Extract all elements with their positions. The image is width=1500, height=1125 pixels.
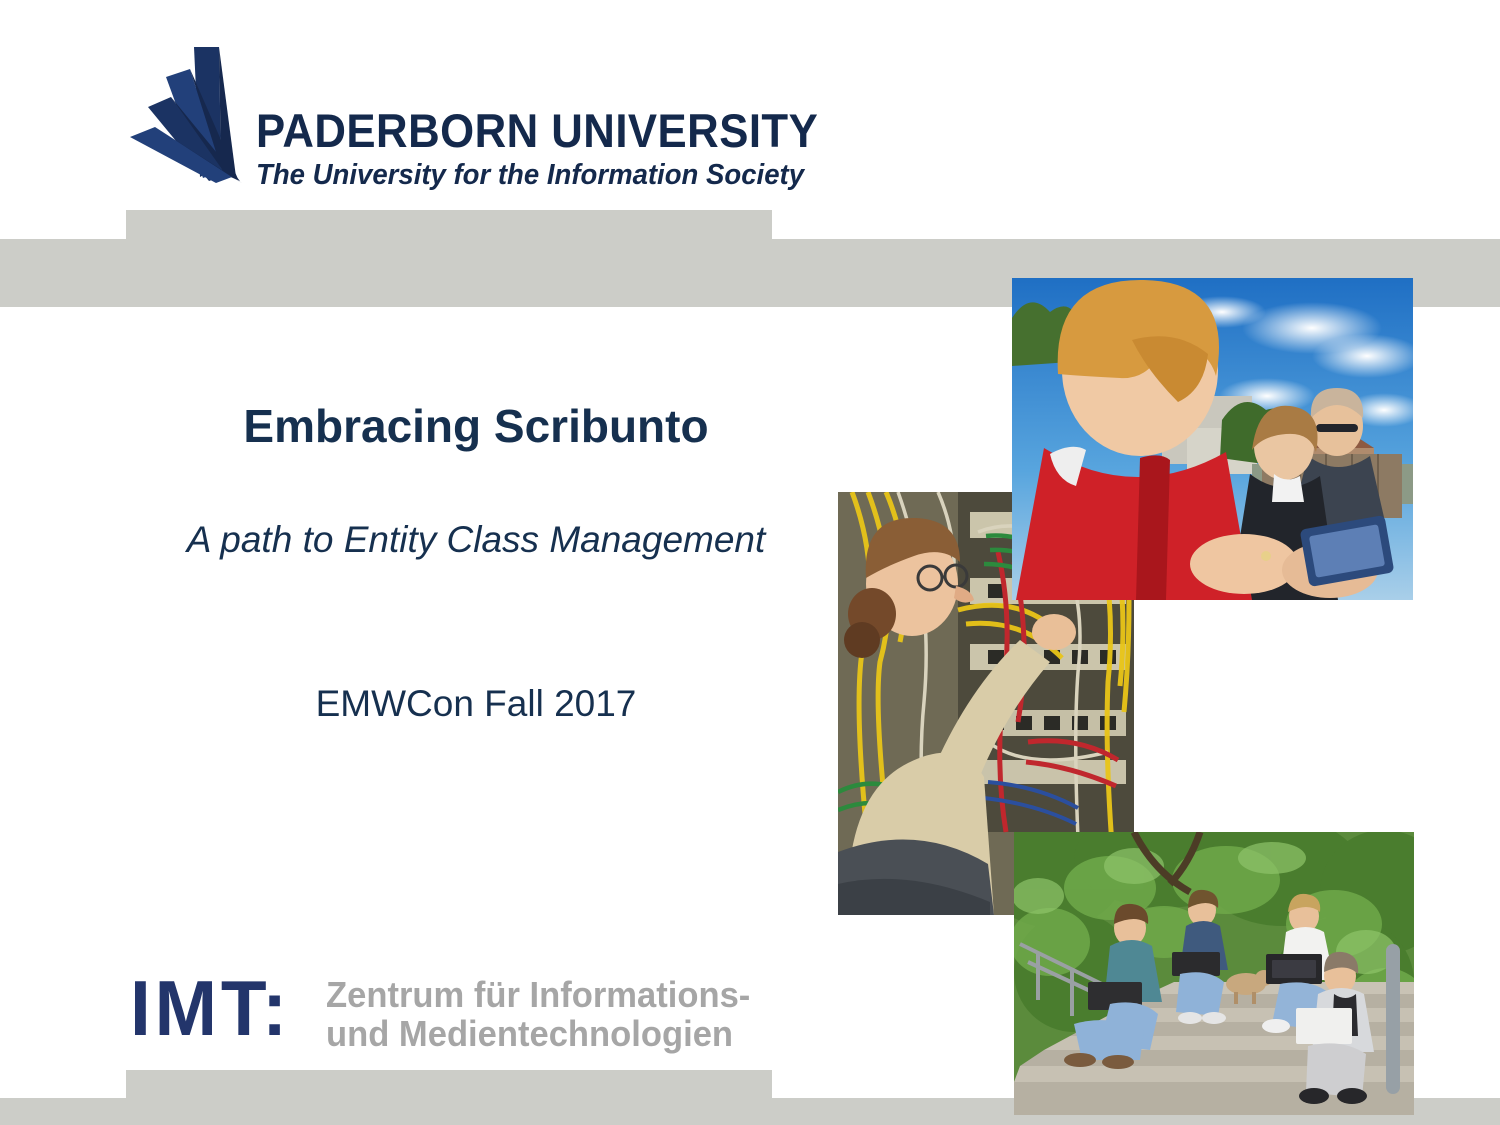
paderborn-university-mark-icon [126,45,271,185]
imt-subtitle-line-2: und Medientechnologien [326,1015,750,1054]
university-tagline: The University for the Information Socie… [256,161,760,190]
imt-subtitle-line-1: Zentrum für Informations- [326,976,750,1015]
slide-subtitle: A path to Entity Class Management [126,518,826,562]
imt-subtitle: Zentrum für Informations- und Medientech… [326,976,750,1054]
slide-event: EMWCon Fall 2017 [126,682,826,726]
gray-block-bottom [126,1070,772,1099]
slide-title: Embracing Scribunto [126,400,826,453]
title-block: Embracing Scribunto A path to Entity Cla… [126,400,826,727]
title-slide: PADERBORN UNIVERSITY The University for … [0,0,1500,1125]
imt-mark: IMT: [130,972,291,1045]
gray-block-top [126,210,772,240]
university-logo: PADERBORN UNIVERSITY The University for … [126,45,786,210]
photo-people-mobile-device [1012,278,1413,600]
imt-logo: IMT: Zentrum für Informations- und Medie… [130,972,790,1072]
university-wordmark: PADERBORN UNIVERSITY The University for … [256,107,786,190]
university-name: PADERBORN UNIVERSITY [256,107,749,154]
photo-students-stairs-laptops [1014,832,1414,1115]
